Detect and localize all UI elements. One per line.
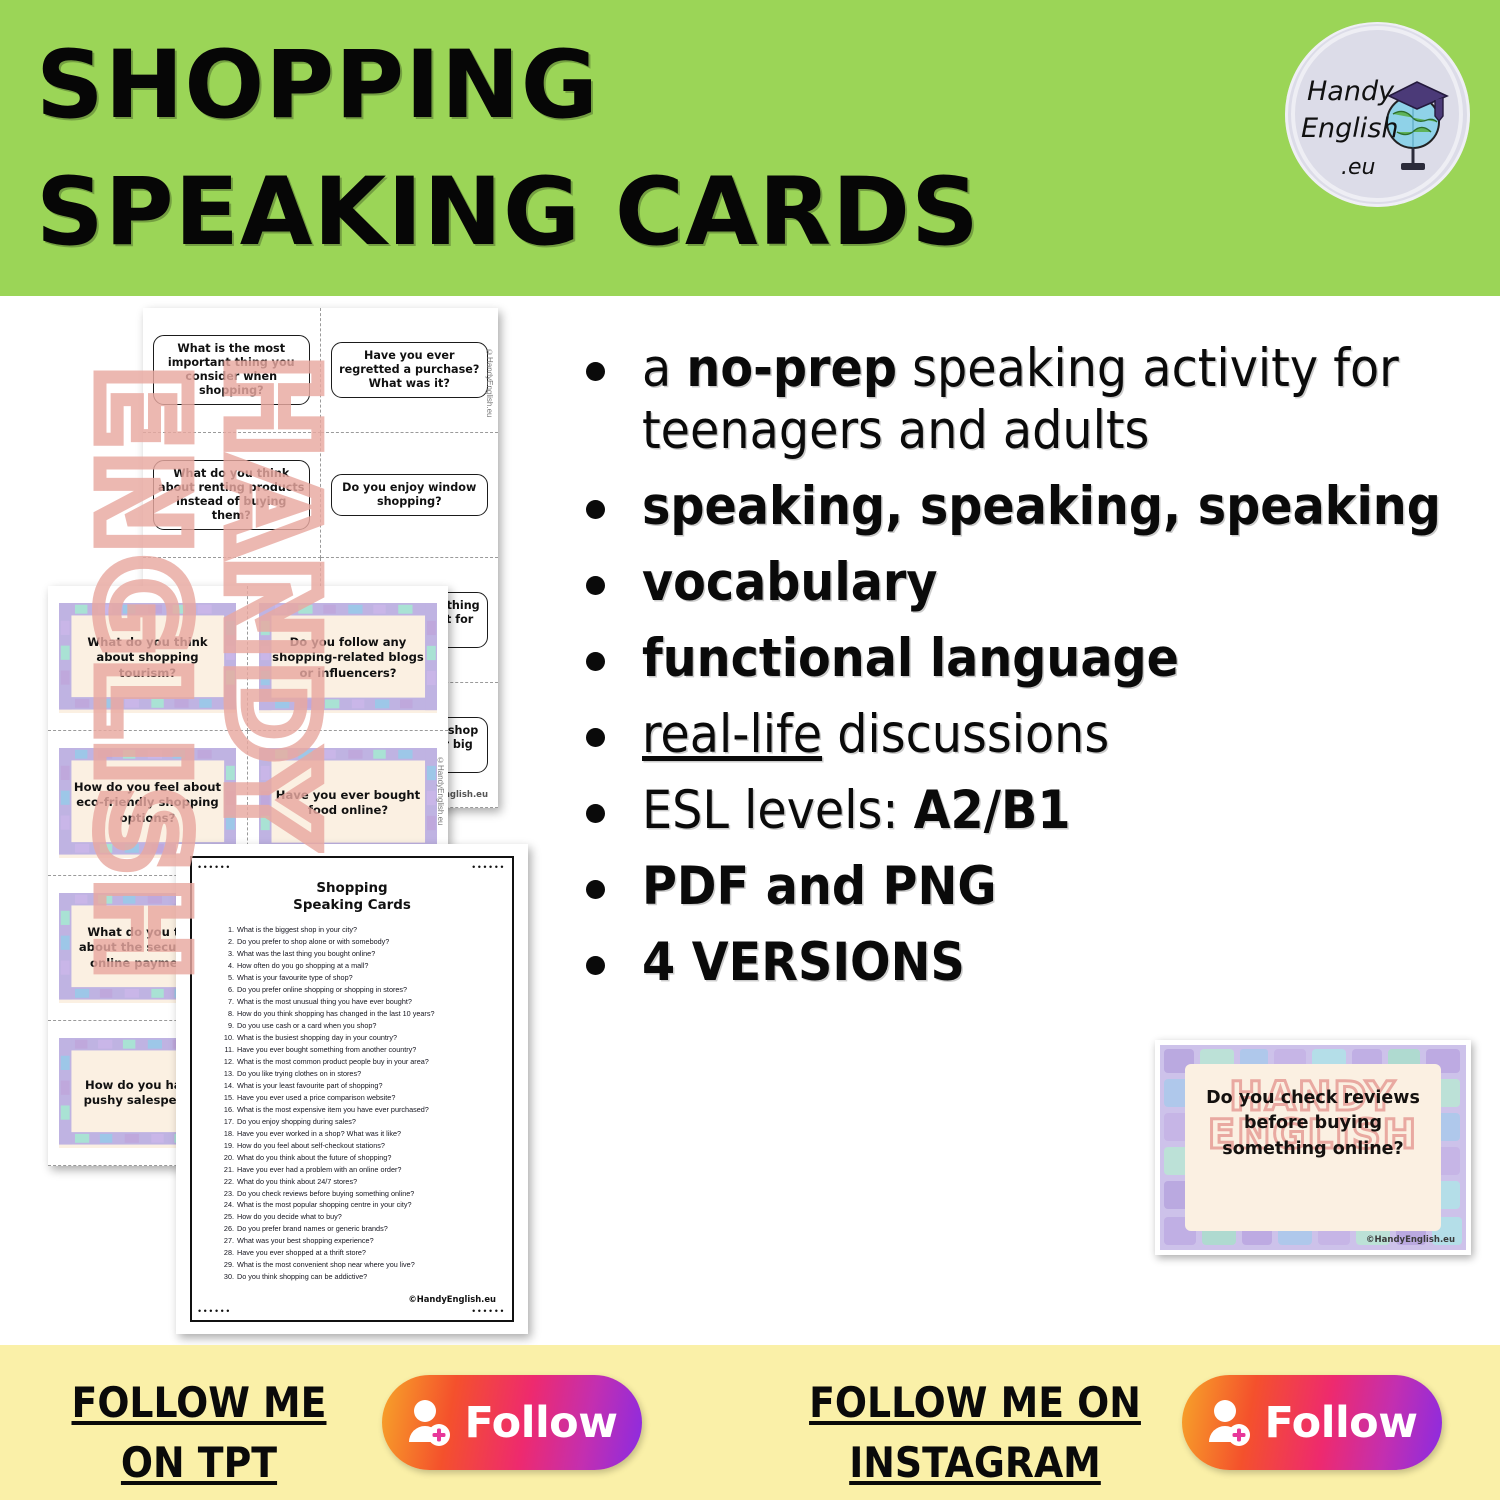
sheet-credit: ©HandyEnglish.eu <box>485 348 494 417</box>
follow-tpt-button-label: Follow <box>465 1398 618 1448</box>
item-text: Do you like trying clothes on in stores? <box>237 1069 361 1078</box>
speaking-card: What is the most important thing you con… <box>153 335 310 405</box>
speaking-card: Have you ever bought food online? <box>259 748 438 857</box>
item-number: 1. <box>218 924 234 936</box>
item-number: 30. <box>218 1271 234 1283</box>
item-text: Have you ever worked in a shop? What was… <box>237 1129 401 1138</box>
list-title-line-2: Speaking Cards <box>293 898 411 913</box>
list-item: 8.How do you think shopping has changed … <box>218 1008 492 1020</box>
footer-bar: FOLLOW ME ON TPT Follow FOLLOW ME ON INS… <box>0 1345 1500 1500</box>
list-item: 17.Do you enjoy shopping during sales? <box>218 1116 492 1128</box>
list-item: 15.Have you ever used a price comparison… <box>218 1092 492 1104</box>
item-text: What was your best shopping experience? <box>237 1236 374 1245</box>
feature-item-esl-levels: ESL levels: A2/B1 <box>560 780 1490 842</box>
item-text: Have you ever had a problem with an onli… <box>237 1165 401 1174</box>
list-item: 7.What is the most unusual thing you hav… <box>218 996 492 1008</box>
svg-text:Handy: Handy <box>1307 76 1395 107</box>
list-title: Shopping Speaking Cards <box>192 880 512 915</box>
list-item: 13.Do you like trying clothes on in stor… <box>218 1068 492 1080</box>
shopping-question-list-sheet[interactable]: •••••• •••••• •••••• •••••• Shopping Spe… <box>176 844 528 1334</box>
list-item: 10.What is the busiest shopping day in y… <box>218 1032 492 1044</box>
item-text: What is the biggest shop in your city? <box>237 925 357 934</box>
list-item: 16.What is the most expensive item you h… <box>218 1104 492 1116</box>
list-item: 20.What do you think about the future of… <box>218 1152 492 1164</box>
item-number: 18. <box>218 1128 234 1140</box>
card-text: Have you ever bought food online? <box>272 788 425 818</box>
item-number: 22. <box>218 1176 234 1188</box>
item-number: 25. <box>218 1211 234 1223</box>
list-item: 18.Have you ever worked in a shop? What … <box>218 1128 492 1140</box>
follow-tpt-group: FOLLOW ME ON TPT Follow <box>30 1345 660 1500</box>
item-text: How often do you go shopping at a mall? <box>237 961 368 970</box>
item-number: 4. <box>218 960 234 972</box>
list-item: 23.Do you check reviews before buying so… <box>218 1188 492 1200</box>
page-title: SHOPPING SPEAKING CARDS <box>36 22 1236 276</box>
item-text: What is the most convenient shop near wh… <box>237 1260 415 1269</box>
corner-dots-top-right: •••••• <box>472 862 506 872</box>
feature-item-no-prep: a no-prep speaking activity for teenager… <box>560 338 1490 462</box>
corner-dots-bottom-right: •••••• <box>472 1306 506 1316</box>
list-item: 2.Do you prefer to shop alone or with so… <box>218 936 492 948</box>
list-item: 29.What is the most convenient shop near… <box>218 1259 492 1271</box>
feature-item-formats: PDF and PNG <box>560 856 1490 918</box>
item-text: Do you prefer to shop alone or with some… <box>237 937 389 946</box>
list-item: 21.Have you ever had a problem with an o… <box>218 1164 492 1176</box>
item-text: What is the most popular shopping centre… <box>237 1200 412 1209</box>
feature-item-real-life-discussions: real-life discussions <box>560 704 1490 766</box>
list-title-line-1: Shopping <box>316 881 387 896</box>
feature-item-vocabulary: vocabulary <box>560 552 1490 614</box>
card-question: Do you check reviews before buying somet… <box>1189 1086 1437 1162</box>
item-number: 12. <box>218 1056 234 1068</box>
item-text: Have you ever shopped at a thrift store? <box>237 1248 366 1257</box>
item-number: 17. <box>218 1116 234 1128</box>
item-text: Do you think shopping can be addictive? <box>237 1272 367 1281</box>
follow-tpt-label-line-1: FOLLOW ME <box>44 1373 354 1433</box>
product-preview-stack: What is the most important thing you con… <box>0 296 560 1345</box>
speaking-card: Do you follow any shopping-related blogs… <box>259 603 438 712</box>
speaking-card: Do you enjoy window shopping? <box>331 474 488 516</box>
handy-english-logo: Handy English .eu <box>1285 22 1470 207</box>
item-number: 14. <box>218 1080 234 1092</box>
item-text: Do you prefer brand names or generic bra… <box>237 1224 388 1233</box>
title-line-1: SHOPPING <box>36 22 1236 149</box>
item-number: 15. <box>218 1092 234 1104</box>
card-cell: Do you enjoy window shopping? <box>321 433 499 558</box>
feature-list: a no-prep speaking activity for teenager… <box>560 338 1490 1008</box>
follow-instagram-label: FOLLOW ME ON INSTAGRAM <box>800 1373 1150 1492</box>
item-text: Have you ever used a price comparison we… <box>237 1093 395 1102</box>
card-credit: ©HandyEnglish.eu <box>1366 1235 1455 1245</box>
feature-item-functional-language: functional language <box>560 628 1490 690</box>
sheet-credit: ©HandyEnglish.eu <box>436 756 445 825</box>
item-text: What is the most unusual thing you have … <box>237 997 412 1006</box>
item-text: Have you ever bought something from anot… <box>237 1045 416 1054</box>
card-text: What do you think about shopping tourism… <box>72 635 224 680</box>
item-text: What is the busiest shopping day in your… <box>237 1033 397 1042</box>
item-number: 10. <box>218 1032 234 1044</box>
item-number: 24. <box>218 1199 234 1211</box>
list-item: 28.Have you ever shopped at a thrift sto… <box>218 1247 492 1259</box>
follow-tpt-button[interactable]: Follow <box>382 1375 642 1470</box>
speaking-card: What do you think about renting products… <box>153 460 310 530</box>
person-add-icon <box>1207 1398 1253 1448</box>
follow-tpt-label-line-2: ON TPT <box>44 1433 354 1493</box>
item-text: What do you think about the future of sh… <box>237 1153 391 1162</box>
item-text: What is the most expensive item you have… <box>237 1105 429 1114</box>
item-number: 28. <box>218 1247 234 1259</box>
list-credit: ©HandyEnglish.eu <box>408 1294 496 1304</box>
item-number: 7. <box>218 996 234 1008</box>
feature-item-speaking: speaking, speaking, speaking <box>560 476 1490 538</box>
svg-text:.eu: .eu <box>1341 155 1375 180</box>
document-border: •••••• •••••• •••••• •••••• Shopping Spe… <box>190 856 514 1322</box>
list-item: 14.What is your least favourite part of … <box>218 1080 492 1092</box>
item-number: 13. <box>218 1068 234 1080</box>
item-number: 21. <box>218 1164 234 1176</box>
item-number: 3. <box>218 948 234 960</box>
card-cell: What do you think about shopping tourism… <box>48 586 248 731</box>
card-text: How do you feel about eco-friendly shopp… <box>72 780 224 825</box>
card-cell: What do you think about renting products… <box>143 433 321 558</box>
item-text: What was the last thing you bought onlin… <box>237 949 375 958</box>
item-number: 27. <box>218 1235 234 1247</box>
item-text: What is the most common product people b… <box>237 1057 429 1066</box>
product-cover-page: SHOPPING SPEAKING CARDS Handy English <box>0 0 1500 1500</box>
follow-instagram-group: FOLLOW ME ON INSTAGRAM Follow <box>790 1345 1440 1500</box>
follow-instagram-button-label: Follow <box>1265 1398 1418 1448</box>
item-number: 16. <box>218 1104 234 1116</box>
list-item: 30.Do you think shopping can be addictiv… <box>218 1271 492 1283</box>
sample-speaking-card[interactable]: HANDYENGLISH Do you check reviews before… <box>1155 1040 1471 1255</box>
speaking-card: Have you ever regretted a purchase? What… <box>331 342 488 398</box>
list-item: 1.What is the biggest shop in your city? <box>218 924 492 936</box>
list-item: 12.What is the most common product peopl… <box>218 1056 492 1068</box>
list-item: 5.What is your favourite type of shop? <box>218 972 492 984</box>
item-text: How do you feel about self-checkout stat… <box>237 1141 385 1150</box>
follow-instagram-button[interactable]: Follow <box>1182 1375 1442 1470</box>
title-line-2: SPEAKING CARDS <box>36 149 1236 276</box>
item-text: How do you decide what to buy? <box>237 1212 342 1221</box>
person-add-icon <box>407 1398 453 1448</box>
follow-instagram-label-line-2: INSTAGRAM <box>800 1433 1150 1493</box>
item-number: 9. <box>218 1020 234 1032</box>
list-item: 9.Do you use cash or a card when you sho… <box>218 1020 492 1032</box>
item-number: 5. <box>218 972 234 984</box>
feature-item-versions: 4 VERSIONS <box>560 932 1490 994</box>
item-number: 20. <box>218 1152 234 1164</box>
list-item: 22.What do you think about 24/7 stores? <box>218 1176 492 1188</box>
item-number: 6. <box>218 984 234 996</box>
list-item: 25.How do you decide what to buy? <box>218 1211 492 1223</box>
item-text: Do you check reviews before buying somet… <box>237 1189 414 1198</box>
item-number: 29. <box>218 1259 234 1271</box>
item-number: 26. <box>218 1223 234 1235</box>
svg-text:English: English <box>1301 113 1399 144</box>
list-item: 6.Do you prefer online shopping or shopp… <box>218 984 492 996</box>
follow-instagram-label-line-1: FOLLOW ME ON <box>800 1373 1150 1433</box>
card-cell: Have you ever regretted a purchase? What… <box>321 308 499 433</box>
header-banner: SHOPPING SPEAKING CARDS Handy English <box>0 0 1500 296</box>
follow-tpt-label: FOLLOW ME ON TPT <box>44 1373 354 1492</box>
list-item: 24.What is the most popular shopping cen… <box>218 1199 492 1211</box>
item-text: Do you prefer online shopping or shoppin… <box>237 985 407 994</box>
item-text: Do you use cash or a card when you shop? <box>237 1021 376 1030</box>
list-item: 26.Do you prefer brand names or generic … <box>218 1223 492 1235</box>
speaking-card: What do you think about shopping tourism… <box>59 603 237 712</box>
card-cell: Do you follow any shopping-related blogs… <box>248 586 448 731</box>
item-number: 2. <box>218 936 234 948</box>
question-list: 1.What is the biggest shop in your city?… <box>192 924 512 1284</box>
item-text: Do you enjoy shopping during sales? <box>237 1117 356 1126</box>
list-item: 4.How often do you go shopping at a mall… <box>218 960 492 972</box>
item-text: What is your least favourite part of sho… <box>237 1081 382 1090</box>
item-text: What is your favourite type of shop? <box>237 973 353 982</box>
card-cell: What is the most important thing you con… <box>143 308 321 433</box>
item-number: 8. <box>218 1008 234 1020</box>
item-text: What do you think about 24/7 stores? <box>237 1177 357 1186</box>
corner-dots-top-left: •••••• <box>198 862 232 872</box>
speaking-card: How do you feel about eco-friendly shopp… <box>59 748 237 857</box>
item-number: 23. <box>218 1188 234 1200</box>
card-text: Do you follow any shopping-related blogs… <box>272 635 425 680</box>
list-item: 19.How do you feel about self-checkout s… <box>218 1140 492 1152</box>
item-number: 19. <box>218 1140 234 1152</box>
list-item: 3.What was the last thing you bought onl… <box>218 948 492 960</box>
item-text: How do you think shopping has changed in… <box>237 1009 435 1018</box>
logo-graphic: Handy English .eu <box>1285 22 1470 207</box>
corner-dots-bottom-left: •••••• <box>198 1306 232 1316</box>
list-item: 27.What was your best shopping experienc… <box>218 1235 492 1247</box>
list-item: 11.Have you ever bought something from a… <box>218 1044 492 1056</box>
item-number: 11. <box>218 1044 234 1056</box>
